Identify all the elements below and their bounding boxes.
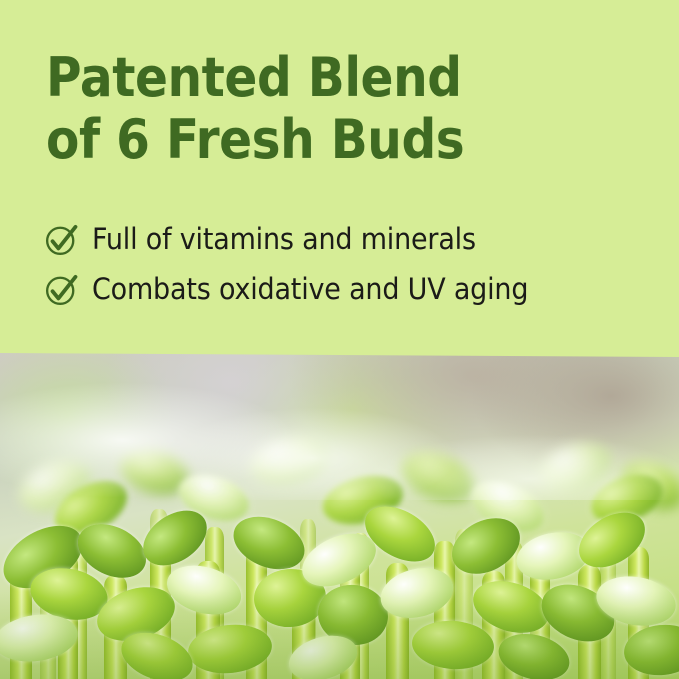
list-item: Full of vitamins and minerals — [44, 214, 664, 264]
list-item: Combats oxidative and UV aging — [44, 264, 664, 314]
headline-panel: Patented Blend of 6 Fresh Buds Full of v… — [0, 0, 679, 358]
product-infographic-banner: Patented Blend of 6 Fresh Buds Full of v… — [0, 0, 679, 679]
page-title: Patented Blend of 6 Fresh Buds — [46, 47, 586, 171]
list-item-label: Combats oxidative and UV aging — [92, 272, 528, 306]
list-item-label: Full of vitamins and minerals — [92, 222, 476, 256]
circle-check-icon — [44, 221, 80, 257]
sprouts-photo — [0, 350, 679, 679]
sprout-cluster — [0, 429, 679, 679]
circle-check-icon — [44, 271, 80, 307]
benefits-list: Full of vitamins and minerals Combats ox… — [44, 214, 664, 314]
